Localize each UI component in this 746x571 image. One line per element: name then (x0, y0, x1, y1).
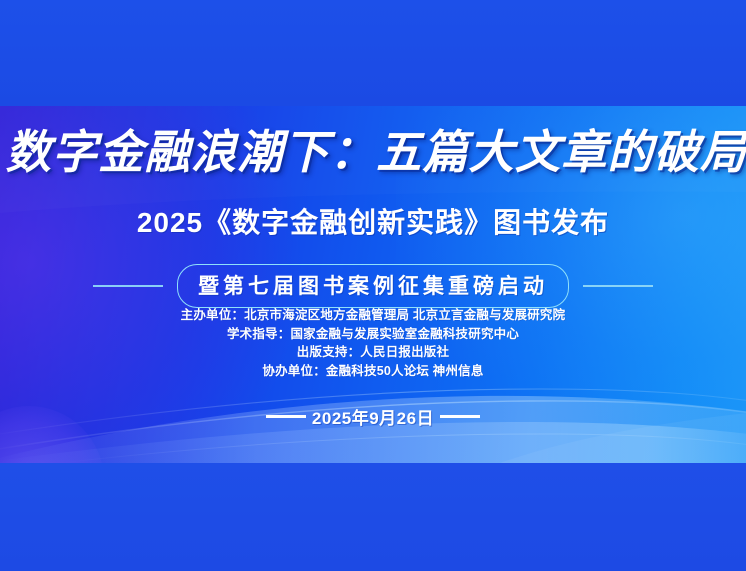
pill-divider-left (93, 285, 163, 287)
organizer-line-host: 主办单位：北京市海淀区地方金融管理局 北京立言金融与发展研究院 (0, 306, 746, 325)
poster-sub-title: 2025《数字金融创新实践》图书发布 (0, 206, 746, 240)
background-band-top (0, 0, 746, 107)
poster-canvas: 数字金融浪潮下：五篇大文章的破局与重构 2025《数字金融创新实践》图书发布 暨… (0, 0, 746, 571)
poster-content: 数字金融浪潮下：五篇大文章的破局与重构 2025《数字金融创新实践》图书发布 暨… (0, 106, 746, 463)
date-rule-right (440, 415, 480, 418)
event-date-row: 2025年9月26日 (0, 404, 746, 429)
poster-main-title: 数字金融浪潮下：五篇大文章的破局与重构 (6, 124, 741, 180)
pill-banner-text: 暨第七届图书案例征集重磅启动 (177, 264, 569, 308)
organizer-line-publisher: 出版支持：人民日报出版社 (0, 343, 746, 362)
organizer-line-coorganizer: 协办单位：金融科技50人论坛 神州信息 (0, 362, 746, 381)
event-date-text: 2025年9月26日 (312, 404, 434, 429)
event-poster: 数字金融浪潮下：五篇大文章的破局与重构 2025《数字金融创新实践》图书发布 暨… (0, 106, 746, 463)
background-band-bottom (0, 462, 746, 571)
organizer-line-academic: 学术指导：国家金融与发展实验室金融科技研究中心 (0, 325, 746, 344)
date-rule-left (266, 415, 306, 418)
organizer-block: 主办单位：北京市海淀区地方金融管理局 北京立言金融与发展研究院 学术指导：国家金… (0, 306, 746, 380)
pill-banner-row: 暨第七届图书案例征集重磅启动 (0, 264, 746, 308)
pill-divider-right (583, 285, 653, 287)
